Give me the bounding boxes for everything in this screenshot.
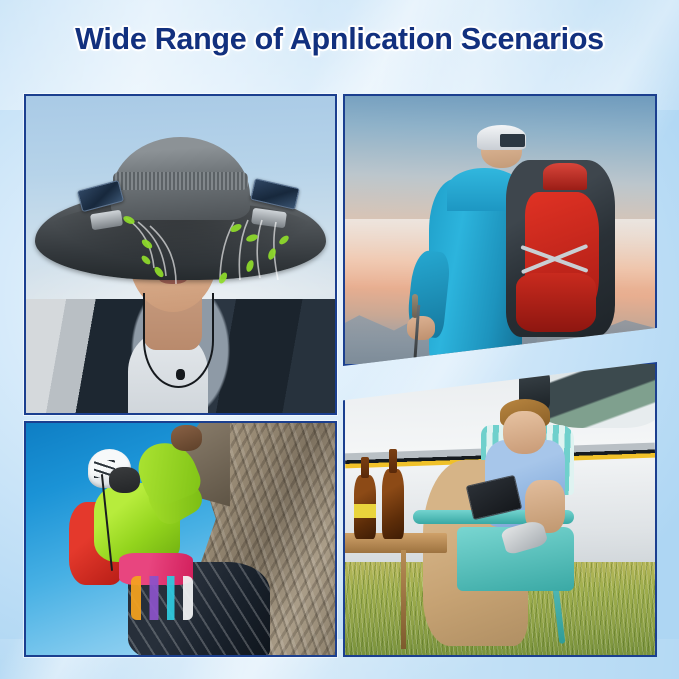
photo-camping [345, 364, 655, 655]
page-title: Wide Range of Apnlication Scenarios [0, 22, 679, 57]
strap-bead-toggle-icon [176, 369, 185, 380]
climber-hand-icon [171, 425, 202, 451]
cap-strap-icon [500, 134, 525, 147]
photo-climbing [26, 423, 335, 655]
backpack-red-base-icon [516, 273, 597, 332]
photo-sun-hat [26, 96, 335, 413]
beer-bottle-right-icon [382, 469, 404, 539]
photo-hiking [345, 96, 655, 364]
camper-head-icon [503, 411, 546, 455]
carabiner-gear-icon [131, 576, 193, 620]
scenario-panel-sun-hat[interactable] [24, 94, 337, 415]
bottle-label-icon [354, 504, 376, 519]
table-leg-icon [401, 550, 406, 649]
scenario-panel-climbing[interactable] [24, 421, 337, 657]
climber-head-icon [109, 467, 140, 493]
hat-mesh-band-icon [113, 172, 249, 189]
backpack-top-pouch-icon [543, 163, 586, 190]
hiker-hand-icon [407, 316, 435, 340]
scenario-panel-hiking[interactable] [343, 94, 657, 366]
scenario-panel-camping[interactable] [343, 362, 657, 657]
